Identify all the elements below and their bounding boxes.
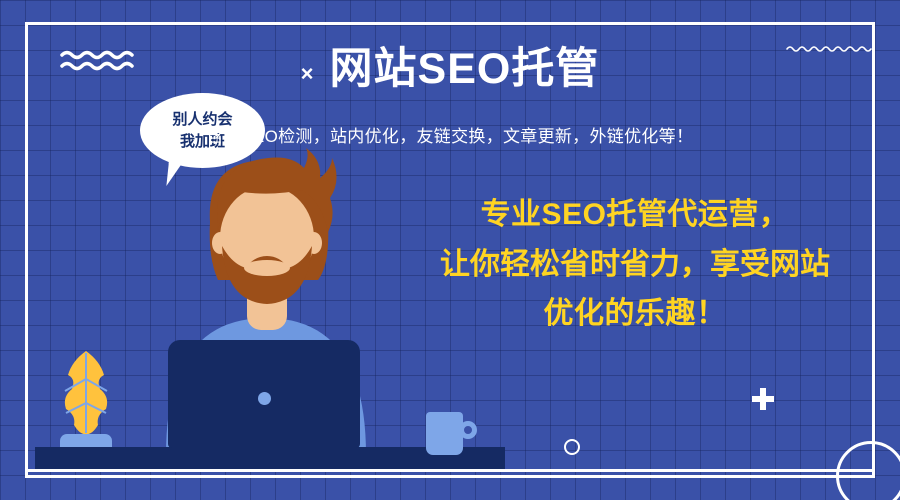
laptop-logo-dot	[258, 392, 271, 405]
plus-icon	[752, 388, 774, 410]
coffee-mug-handle	[459, 421, 477, 439]
laptop-icon	[168, 340, 360, 448]
title-x-marker: ×	[301, 63, 314, 85]
wavy-lines-icon	[60, 48, 140, 72]
slogan-line-1: 专业SEO托管代运营，	[380, 190, 890, 240]
slogan-line-2: 让你轻松省时省力，享受网站	[380, 240, 890, 290]
circle-outline-icon	[564, 439, 580, 455]
slogan-line-3: 优化的乐趣！	[380, 289, 890, 339]
coffee-mug-icon	[426, 412, 463, 455]
ear-left	[212, 232, 228, 254]
wavy-line-icon	[785, 43, 875, 55]
desk-edge-line	[28, 469, 873, 472]
page-title: 网站SEO托管	[330, 46, 600, 93]
subtitle: 含：SEO检测，站内优化，友链交换，文章更新，外链优化等！	[0, 122, 900, 147]
poster-canvas: 别人约会 我加班 × 网站SEO托管 含：SEO检测，站内优化，友链交换，文章更…	[0, 0, 900, 500]
potted-plant-icon	[55, 345, 117, 440]
slogan-block: 专业SEO托管代运营， 让你轻松省时省力，享受网站 优化的乐趣！	[380, 190, 890, 339]
mouth-shape	[244, 260, 290, 276]
ear-right	[306, 232, 322, 254]
